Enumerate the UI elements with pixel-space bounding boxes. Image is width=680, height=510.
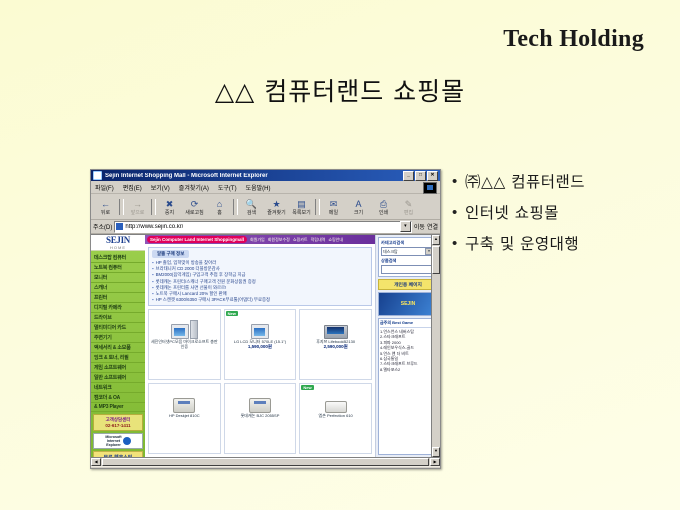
refresh-icon: ⟳	[191, 199, 199, 210]
sidebar-item-notebook[interactable]: 노트북 컴퓨터	[91, 263, 145, 273]
sidebar-item-camcorder-oa[interactable]: 캠코더 & OA	[91, 393, 145, 403]
toolbar-search-label: 검색	[247, 210, 256, 216]
bullet-marker-icon: •	[452, 203, 465, 223]
monitor-icon	[251, 324, 269, 339]
printer-icon	[173, 398, 195, 413]
go-button[interactable]: 이동	[414, 222, 425, 231]
window-controls: _ □ ✕	[403, 171, 438, 181]
ie-badge-text: Microsoft Internet Explorer	[105, 435, 121, 447]
page-viewport: SEJIN HOME 데스크탑 컴퓨터 노트북 컴퓨터 모니터 스캐너 프린터 …	[91, 234, 440, 457]
promo-banner-text: SEJIN	[401, 301, 415, 307]
history-icon: ▤	[297, 199, 306, 210]
product-image-printer2	[225, 386, 296, 413]
toolbar-home-button[interactable]: ⌂ 홈	[207, 199, 232, 216]
toolbar-forward-button[interactable]: → 앞으로	[125, 199, 150, 216]
back-arrow-icon: ←	[101, 199, 110, 210]
search-panel: 카테고리검색 데스크탑 ▾ 상품검색	[378, 237, 438, 277]
mail-icon: ✉	[330, 199, 338, 210]
list-item: • 인터넷 쇼핑몰	[452, 203, 667, 223]
product-card[interactable]: New 엡손 Perfection 610	[299, 383, 372, 454]
sidebar-item-ink-toner[interactable]: 잉크 & 토너, 리필	[91, 353, 145, 363]
toolbar-favorites-label: 즐겨찾기	[267, 210, 285, 216]
ie-logo-icon	[93, 171, 102, 180]
product-search-label: 상품검색	[381, 258, 435, 264]
product-card[interactable]: New LG LCD 모니터 570LE (15.1") 1,590,000원	[224, 309, 297, 380]
nav-join[interactable]: 회원가입	[250, 237, 265, 243]
sidebar-item-mp3-player[interactable]: & MP3 Player	[91, 403, 145, 412]
list-item[interactable]: 8.델타포스2	[380, 367, 436, 372]
ie-animated-logo-icon	[423, 182, 437, 194]
sidebar-item-game-software[interactable]: 게임 소프트웨어	[91, 363, 145, 373]
site-main: Sejin Computer Land Internet Shoppingmal…	[145, 235, 375, 457]
phone-banner-number: 02-617-1411	[105, 423, 130, 428]
scroll-thumb[interactable]	[432, 246, 440, 274]
scroll-thumb[interactable]	[102, 458, 429, 466]
printer-icon: ⎙	[380, 199, 387, 210]
nav-edit-profile[interactable]: 회원정보수정	[268, 237, 290, 243]
free-hosting-button[interactable]: 무료 웹호스팅	[93, 451, 143, 457]
product-card[interactable]: 세진인터넷PC모음 마이크로소프트 총판인증	[148, 309, 221, 380]
menu-item-edit[interactable]: 편집(E)	[123, 183, 142, 192]
window-title: Sejin Internet Shopping Mall - Microsoft…	[105, 173, 403, 179]
site-sidebar: SEJIN HOME 데스크탑 컴퓨터 노트북 컴퓨터 모니터 스캐너 프린터 …	[91, 235, 145, 457]
toolbar-refresh-label: 새로고침	[185, 210, 203, 216]
bullet-list: • ㈜△△ 컴퓨터랜드 • 인터넷 쇼핑몰 • 구축 및 운영대행	[452, 172, 667, 265]
product-grid: 세진인터넷PC모음 마이크로소프트 총판인증 New LG LCD 모니터 57…	[145, 306, 375, 457]
nav-cart[interactable]: 쇼핑카트	[293, 237, 308, 243]
font-size-icon: A	[355, 199, 361, 210]
deals-panel: 알뜰 구매 정보 HP 졸업, 입학맞이 방송을 찾아라 브라태니커 CD 20…	[148, 247, 372, 306]
bullet-text: ㈜△△ 컴퓨터랜드	[465, 172, 585, 192]
menu-item-tools[interactable]: 도구(T)	[218, 183, 237, 192]
page-icon	[116, 223, 123, 230]
sidebar-item-printer[interactable]: 프린터	[91, 293, 145, 303]
new-badge: New	[301, 385, 313, 390]
bullet-marker-icon: •	[452, 234, 465, 254]
chevron-down-icon[interactable]: ▾	[400, 221, 411, 232]
site-logo[interactable]: SEJIN HOME	[91, 235, 145, 251]
site-banner: Sejin Computer Land Internet Shoppingmal…	[145, 235, 375, 244]
product-price: 2,590,000원	[324, 344, 348, 350]
toolbar-stop-label: 중지	[165, 210, 174, 216]
sidebar-item-drive[interactable]: 드라이브	[91, 313, 145, 323]
vertical-scrollbar[interactable]: ▲ ▼	[431, 235, 440, 457]
toolbar-print-button[interactable]: ⎙ 인쇄	[371, 199, 396, 216]
scroll-left-button[interactable]: ◀	[91, 458, 101, 466]
product-image-scanner	[300, 386, 371, 413]
toolbar-separator	[233, 199, 238, 215]
product-card[interactable]: 롯데캐논 BJC 2055SP	[224, 383, 297, 454]
product-card[interactable]: 후지쯔 LifebookB2130 2,590,000원	[299, 309, 372, 380]
toolbar-search-button[interactable]: 🔍 검색	[239, 199, 264, 216]
toolbar-mail-label: 메일	[329, 210, 338, 216]
scanner-icon	[325, 401, 347, 413]
tower-icon	[190, 320, 198, 339]
toolbar-size-button[interactable]: A 크기	[346, 199, 371, 216]
sidebar-item-peripherals[interactable]: 주변기기	[91, 333, 145, 343]
promo-banner[interactable]: SEJIN	[378, 292, 438, 316]
menu-bar: 파일(F) 편집(E) 보기(V) 즐겨찾기(A) 도구(T) 도움말(H)	[91, 181, 440, 194]
presentation-slide: Tech Holding △△ 컴퓨터랜드 쇼핑몰 • ㈜△△ 컴퓨터랜드 • …	[0, 0, 680, 510]
site-nav: 회원가입 회원정보수정 쇼핑카트 적립내역 쇼핑안내	[250, 237, 343, 243]
laptop-icon	[324, 325, 348, 339]
toolbar-favorites-button[interactable]: ★ 즐겨찾기	[264, 199, 289, 216]
product-image-laptop	[300, 312, 371, 339]
personal-page-button[interactable]: 개인용 페이지	[378, 279, 438, 290]
toolbar-history-button[interactable]: ▤ 목록보기	[289, 199, 314, 216]
nav-guide[interactable]: 쇼핑안내	[328, 237, 343, 243]
list-item: • ㈜△△ 컴퓨터랜드	[452, 172, 667, 192]
product-name: 세진인터넷PC모음 마이크로소프트 총판인증	[149, 339, 220, 349]
sidebar-item-multimedia-card[interactable]: 멀티미디어 카드	[91, 323, 145, 333]
toolbar-refresh-button[interactable]: ⟳ 새로고침	[182, 199, 207, 216]
list-item[interactable]: HP 스캔젯 6300/6350 구매시 3PACK무료툴(어댑터) 무료증정	[152, 297, 368, 303]
scroll-down-button[interactable]: ▼	[432, 447, 440, 457]
forward-arrow-icon: →	[133, 199, 142, 210]
category-menu: 데스크탑 컴퓨터 노트북 컴퓨터 모니터 스캐너 프린터 디지털 카메라 드라이…	[91, 251, 145, 412]
toolbar-separator	[151, 199, 156, 215]
sidebar-item-desktop[interactable]: 데스크탑 컴퓨터	[91, 253, 145, 263]
stop-icon: ✖	[166, 199, 174, 210]
toolbar-print-label: 인쇄	[379, 210, 388, 216]
security-zone-label: 인터넷	[387, 469, 402, 470]
product-card[interactable]: HP Deskjet 810C	[148, 383, 221, 454]
search-icon: 🔍	[246, 199, 257, 210]
nav-points[interactable]: 적립내역	[311, 237, 326, 243]
sidebar-item-accessories[interactable]: 액세서리 & 소모품	[91, 343, 145, 353]
best-game-heading: 금주의 Best Game	[380, 320, 436, 328]
toolbar-edit-button[interactable]: ✎ 편집	[396, 199, 421, 216]
list-item: • 구축 및 운영대행	[452, 234, 667, 254]
status-bar: 인터넷	[91, 466, 440, 469]
sidebar-item-monitor[interactable]: 모니터	[91, 273, 145, 283]
address-bar: 주소(D) http://www.sejin.co.kr/ ▾ 이동 연결	[91, 220, 440, 234]
product-image-monitor	[225, 312, 296, 339]
menu-item-help[interactable]: 도움말(H)	[246, 183, 271, 192]
horizontal-scrollbar[interactable]: ◀ ▶	[91, 457, 440, 466]
site-logo-sub: HOME	[110, 245, 126, 250]
minimize-button[interactable]: _	[403, 171, 414, 181]
browser-titlebar: Sejin Internet Shopping Mall - Microsoft…	[91, 170, 440, 181]
toolbar-history-label: 목록보기	[292, 210, 310, 216]
product-name: 롯데캐논 BJC 2055SP	[240, 413, 281, 418]
sidebar-item-general-software[interactable]: 일반 소프트웨어	[91, 373, 145, 383]
toolbar-stop-button[interactable]: ✖ 중지	[157, 199, 182, 216]
status-progress	[346, 468, 374, 470]
edit-pencil-icon: ✎	[405, 199, 413, 210]
toolbar-back-label: 뒤로	[101, 210, 110, 216]
menu-item-view[interactable]: 보기(V)	[151, 183, 170, 192]
status-message	[93, 468, 344, 470]
page-title: △△ 컴퓨터랜드 쇼핑몰	[0, 72, 680, 108]
product-name: HP Deskjet 810C	[168, 413, 201, 418]
address-value: http://www.sejin.co.kr/	[125, 224, 183, 230]
free-hosting-label: 무료 웹호스팅	[104, 454, 133, 458]
address-label: 주소(D)	[93, 222, 112, 231]
toolbar-edit-label: 편집	[404, 210, 413, 216]
product-price: 1,590,000원	[248, 344, 272, 350]
toolbar-separator	[119, 199, 124, 215]
toolbar-separator	[315, 199, 320, 215]
sidebar-ads: 고객상담센터 02-617-1411 Microsoft Internet Ex…	[91, 412, 145, 457]
product-image-printer	[149, 386, 220, 413]
sidebar-item-digital-camera[interactable]: 디지털 카메라	[91, 303, 145, 313]
product-image-desktop	[149, 312, 220, 339]
site-brand: Sejin Computer Land Internet Shoppingmal…	[147, 236, 247, 243]
sidebar-item-network[interactable]: 네트워크	[91, 383, 145, 393]
close-button[interactable]: ✕	[427, 171, 438, 181]
security-zone[interactable]: 인터넷	[376, 468, 438, 470]
ie-badge[interactable]: Microsoft Internet Explorer	[93, 433, 143, 449]
menu-item-favorites[interactable]: 즐겨찾기(A)	[179, 183, 209, 192]
scroll-up-button[interactable]: ▲	[432, 235, 440, 245]
star-icon: ★	[272, 199, 280, 210]
category-search-label: 카테고리검색	[381, 240, 435, 246]
bullet-marker-icon: •	[452, 172, 465, 192]
phone-banner[interactable]: 고객상담센터 02-617-1411	[93, 414, 143, 431]
company-title: Tech Holding	[503, 26, 644, 53]
links-button[interactable]: 연결	[427, 222, 438, 231]
deals-heading: 알뜰 구매 정보	[152, 250, 189, 258]
browser-window: Sejin Internet Shopping Mall - Microsoft…	[90, 169, 441, 469]
deals-list: HP 졸업, 입학맞이 방송을 찾아라 브라태니커 CD 2000 더블방문감사…	[152, 260, 368, 303]
browser-toolbar: ← 뒤로 → 앞으로 ✖ 중지 ⟳ 새로고침 ⌂ 홈 🔍	[91, 194, 440, 220]
address-input[interactable]: http://www.sejin.co.kr/ ▾	[114, 221, 412, 233]
ie-badge-line3: Explorer	[106, 443, 121, 447]
best-game-panel: 금주의 Best Game 1.언스언스 네버스탑 2.스타크래프트 3.피파 …	[378, 318, 438, 455]
scroll-right-button[interactable]: ▶	[430, 458, 440, 466]
bullet-text: 인터넷 쇼핑몰	[465, 203, 559, 223]
toolbar-back-button[interactable]: ← 뒤로	[93, 199, 118, 216]
monitor-icon	[171, 324, 189, 339]
maximize-button[interactable]: □	[415, 171, 426, 181]
new-badge: New	[226, 311, 238, 316]
toolbar-forward-label: 앞으로	[131, 210, 145, 216]
toolbar-home-label: 홈	[217, 210, 222, 216]
toolbar-size-label: 크기	[354, 210, 363, 216]
category-select[interactable]: 데스크탑 ▾	[381, 247, 435, 256]
printer-icon	[249, 398, 271, 413]
product-search-input[interactable]	[381, 265, 435, 274]
home-icon: ⌂	[217, 199, 222, 210]
menu-item-file[interactable]: 파일(F)	[95, 183, 114, 192]
category-select-value: 데스크탑	[383, 249, 398, 255]
toolbar-mail-button[interactable]: ✉ 메일	[321, 199, 346, 216]
sidebar-item-scanner[interactable]: 스캐너	[91, 283, 145, 293]
product-name: 엡손 Perfection 610	[318, 413, 354, 418]
bullet-text: 구축 및 운영대행	[465, 234, 579, 254]
ie-logo-icon	[123, 437, 131, 445]
site-logo-text: SEJIN	[106, 235, 130, 245]
